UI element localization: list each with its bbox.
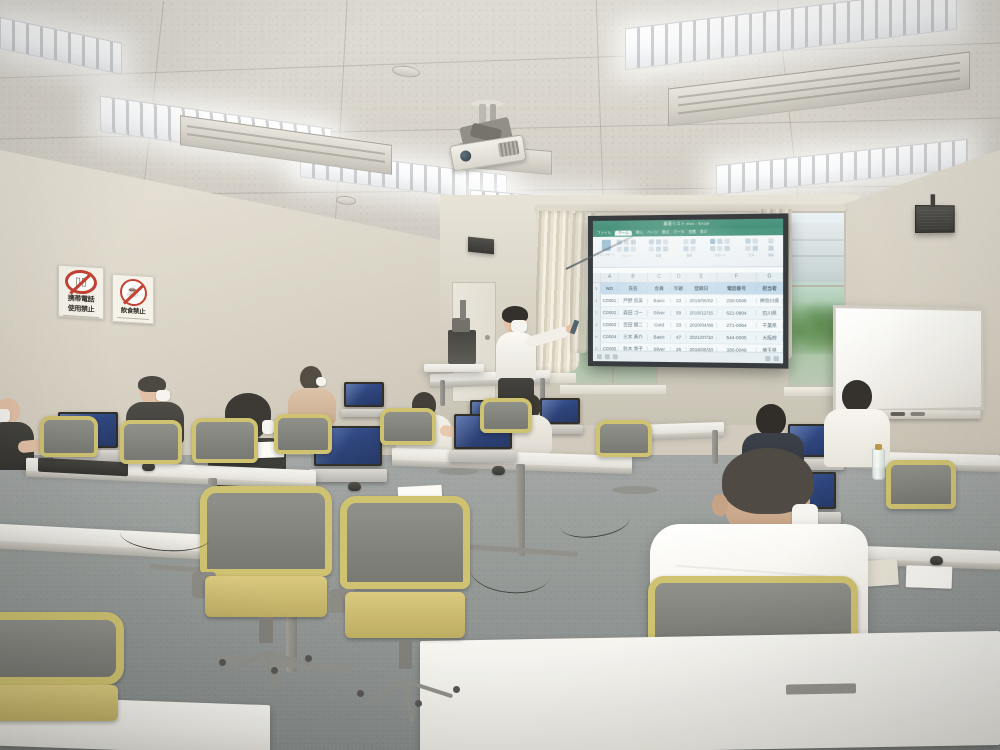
office-chair[interactable] <box>480 398 532 452</box>
tab-formula[interactable]: 数式 <box>662 230 669 235</box>
cell-date: 2021/07/10 <box>687 335 718 340</box>
mouse[interactable] <box>348 482 361 491</box>
student-desk <box>420 631 1000 750</box>
header-staff: 担当者 <box>757 285 783 291</box>
face-mask <box>316 377 326 386</box>
office-chair[interactable] <box>192 418 258 488</box>
door-knob-icon <box>485 335 490 340</box>
cell-name: 戸野 良美 <box>619 298 648 304</box>
office-chair[interactable] <box>0 612 124 750</box>
mouse[interactable] <box>930 556 943 565</box>
cell-tel: 230-0046 <box>717 298 757 303</box>
cell-age: 23 <box>672 298 687 303</box>
header-tel: 電話番号 <box>717 285 757 291</box>
column-header-f[interactable]: F <box>717 272 757 281</box>
ribbon-group-number: 数値 <box>687 253 692 257</box>
excel-status-bar <box>593 350 783 363</box>
projection-screen: 顧客リスト.xlsx - Excel ファイル ホーム 挿入 ページ 数式 デー… <box>588 213 788 368</box>
no-eating-drinking-sign: ☕ 飲食禁止 <box>112 274 154 325</box>
chair-base <box>438 468 478 475</box>
office-chair[interactable] <box>40 416 98 480</box>
laptop[interactable] <box>344 382 384 417</box>
ribbon-group-font: フォント <box>621 254 631 258</box>
face-mask <box>262 420 274 434</box>
paper-sheet[interactable] <box>906 565 953 589</box>
water-bottle[interactable] <box>872 448 885 480</box>
column-header-g[interactable]: G <box>757 272 783 281</box>
no-mobile-phone-sign: ▯▯ 携帯電話 使用禁止 <box>58 265 104 320</box>
cell-tel: 271-0064 <box>717 323 757 328</box>
cell-no: C0001 <box>601 298 619 303</box>
cell-no: C0003 <box>601 322 619 327</box>
ribbon-group-edit: 編集 <box>768 253 773 257</box>
classroom-photo: ▯▯ 携帯電話 使用禁止 ☕ 飲食禁止 <box>0 0 1000 750</box>
head <box>842 380 872 412</box>
mouse[interactable] <box>492 466 505 475</box>
column-header-row: A B C D E F G <box>593 272 783 283</box>
document-camera <box>460 300 466 320</box>
tab-insert[interactable]: 挿入 <box>636 230 643 235</box>
cell-rank: Gold <box>648 322 672 327</box>
header-age: 年齢 <box>672 285 687 291</box>
cell-name: 吉田 健二 <box>619 322 648 328</box>
excel-worksheet-grid: A B C D E F G 1 NO 氏名 会員 年齢 登録日 電話番号 担当者 <box>593 272 783 353</box>
face-mask <box>156 390 170 401</box>
header-date: 登録日 <box>687 285 718 291</box>
cell-age: 33 <box>672 322 687 327</box>
mobile-phone-icon: ▯▯ <box>75 276 87 288</box>
tab-home[interactable]: ホーム <box>615 231 632 236</box>
cell-staff: 石川県 <box>757 310 783 316</box>
cell-staff: 大阪府 <box>757 335 783 341</box>
tab-review[interactable]: 校閲 <box>688 230 695 235</box>
cell-date: 2019/06/02 <box>687 298 718 303</box>
ribbon-group-styles: スタイル <box>715 253 726 257</box>
office-chair[interactable] <box>120 420 182 488</box>
wall-signage: ▯▯ 携帯電話 使用禁止 ☕ 飲食禁止 <box>58 266 162 324</box>
equipment-box <box>452 318 470 332</box>
sign-line-1: 携帯電話 <box>68 295 94 305</box>
ear <box>712 494 728 516</box>
cell-tel: 621-0804 <box>717 310 757 315</box>
table-row[interactable]: 2 C0002 森田 ゴー Silver 59 2018/12/15 621-0… <box>593 307 783 320</box>
whiteboard-marker[interactable] <box>891 412 906 416</box>
header-no: NO <box>601 286 619 291</box>
prohibition-circle-icon: ▯▯ <box>65 269 97 295</box>
desk-leg <box>516 464 525 556</box>
office-chair[interactable] <box>340 496 470 674</box>
equipment-box <box>448 330 476 364</box>
face-mask <box>0 409 10 422</box>
cell-name: 森田 ゴー <box>619 310 648 316</box>
wall-speaker <box>915 205 955 233</box>
office-chair[interactable] <box>596 420 652 478</box>
tab-data[interactable]: データ <box>673 230 684 235</box>
cell-rank: Basic <box>648 298 672 303</box>
column-header-c[interactable]: C <box>648 273 672 282</box>
desk-cable-port <box>786 683 856 694</box>
cell-staff: 神奈川県 <box>757 298 783 304</box>
cell-date: 2020/04/08 <box>687 323 718 328</box>
ceiling-projector <box>449 104 525 166</box>
prohibition-circle-icon: ☕ <box>120 278 147 307</box>
header-name: 氏名 <box>619 285 648 291</box>
header-rank: 会員 <box>648 285 672 291</box>
cell-no: C0004 <box>601 334 619 339</box>
office-chair[interactable] <box>886 460 956 536</box>
excel-document-title: 顧客リスト.xlsx - Excel <box>664 221 710 228</box>
cell-age: 47 <box>672 335 687 340</box>
food-drink-icon: ☕ <box>126 287 140 299</box>
column-header-a[interactable]: A <box>601 273 619 282</box>
cell-rank: Basic <box>648 334 672 339</box>
sign-line-2: 使用禁止 <box>68 305 94 315</box>
cell-rank: Silver <box>648 310 672 315</box>
tab-page[interactable]: ページ <box>647 230 658 235</box>
ribbon-group-cells: セル <box>749 253 754 257</box>
tab-view[interactable]: 表示 <box>700 230 707 235</box>
ribbon-group-align: 配置 <box>656 254 661 258</box>
head <box>756 404 786 436</box>
cell-name: 三木 真介 <box>619 334 648 340</box>
table-header-row: 1 NO 氏名 会員 年齢 登録日 電話番号 担当者 <box>593 283 783 295</box>
cell-age: 59 <box>672 310 687 315</box>
table-row[interactable]: 1 C0001 戸野 良美 Basic 23 2019/06/02 230-00… <box>593 295 783 308</box>
whiteboard-marker[interactable] <box>911 412 925 416</box>
chair-base <box>612 486 658 494</box>
instructor <box>492 308 550 408</box>
tab-file[interactable]: ファイル <box>597 231 611 236</box>
column-header-d[interactable]: D <box>672 273 687 282</box>
office-chair[interactable] <box>380 408 436 466</box>
sign-line-1: 飲食禁止 <box>121 307 145 316</box>
face-mask <box>511 320 527 332</box>
wall-speaker <box>468 237 494 255</box>
window-sill <box>560 385 666 394</box>
cell-date: 2018/12/15 <box>687 310 718 315</box>
column-header-e[interactable]: E <box>687 273 718 282</box>
cell-staff: 千葉県 <box>757 322 783 328</box>
instructor-desk <box>424 364 484 372</box>
office-chair[interactable] <box>274 414 332 476</box>
column-header-b[interactable]: B <box>619 273 648 282</box>
cell-tel: 544-0005 <box>717 335 757 340</box>
cell-no: C0002 <box>601 310 619 315</box>
office-chair[interactable] <box>200 486 332 646</box>
